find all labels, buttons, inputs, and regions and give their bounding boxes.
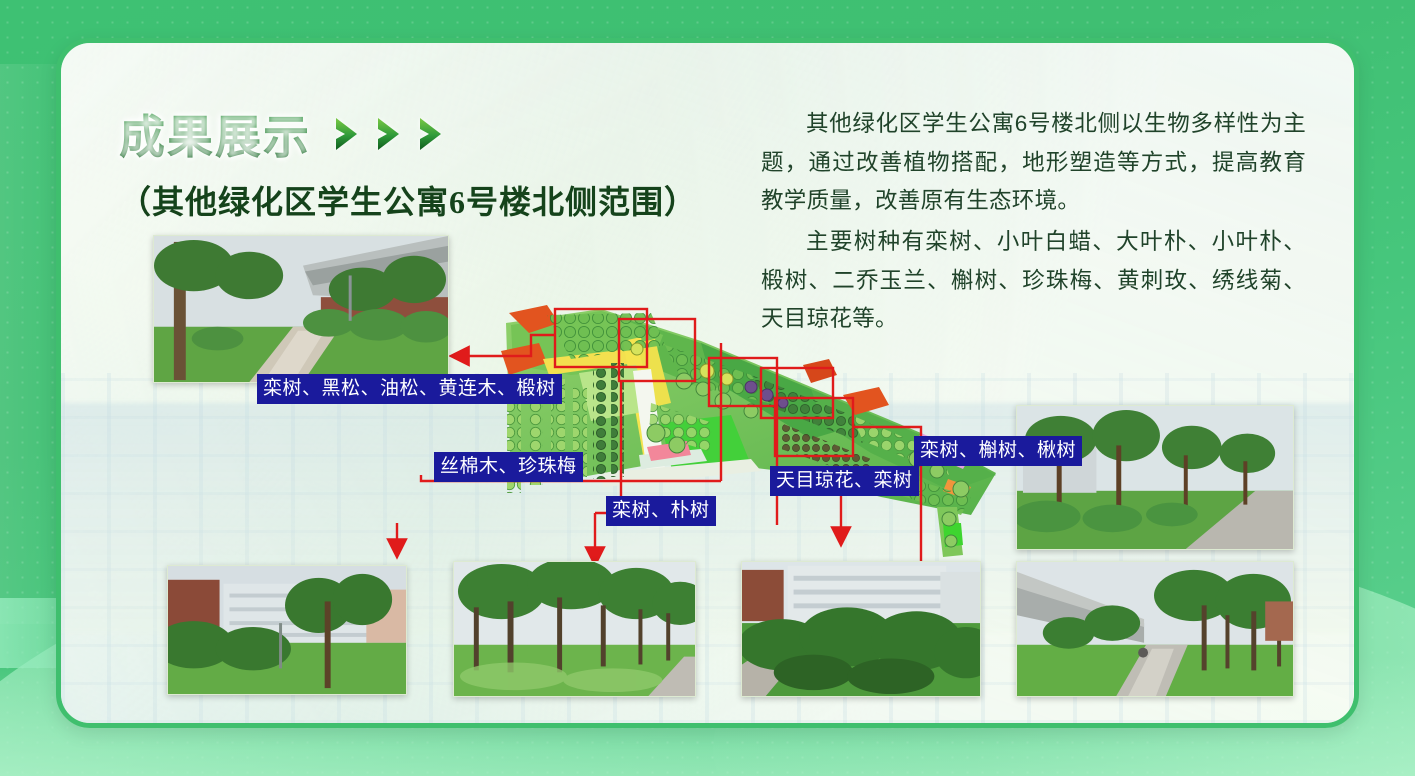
photo-dense-shrub-walkway: [741, 561, 981, 697]
landscape-plan-diagram: [451, 283, 1031, 583]
callout-label-2: 栾树、朴树: [606, 496, 716, 526]
callout-label-4: 栾树、槲树、楸树: [914, 436, 1082, 466]
photo-path-under-viaduct: [153, 235, 449, 383]
content-panel: 成果展示: [56, 38, 1359, 728]
title-row: 成果展示: [119, 101, 697, 167]
panel-inner: 成果展示: [61, 43, 1354, 723]
callout-label-3: 天目琼花、栾树: [770, 466, 919, 496]
photo-roadside-planting: [1016, 405, 1294, 550]
photo-tree-grove-lawn: [453, 561, 696, 697]
description-paragraph-1: 其他绿化区学生公寓6号楼北侧以生物多样性为主题，通过改善植物搭配，地形塑造等方式…: [761, 105, 1306, 221]
page-title: 成果展示: [119, 101, 311, 167]
heading-block: 成果展示: [119, 101, 697, 223]
photo-shrubs-near-dormitory: [167, 565, 407, 695]
callout-label-0: 栾树、黑松、油松、黄连木、椴树: [257, 374, 562, 404]
photo-walkway-viaduct: [1016, 561, 1294, 697]
chevron-right-triple-icon: [333, 115, 453, 153]
slide-root: 成果展示: [0, 0, 1415, 776]
callout-label-1: 丝棉木、珍珠梅: [434, 452, 583, 482]
page-subtitle: （其他绿化区学生公寓6号楼北侧范围）: [119, 177, 697, 223]
